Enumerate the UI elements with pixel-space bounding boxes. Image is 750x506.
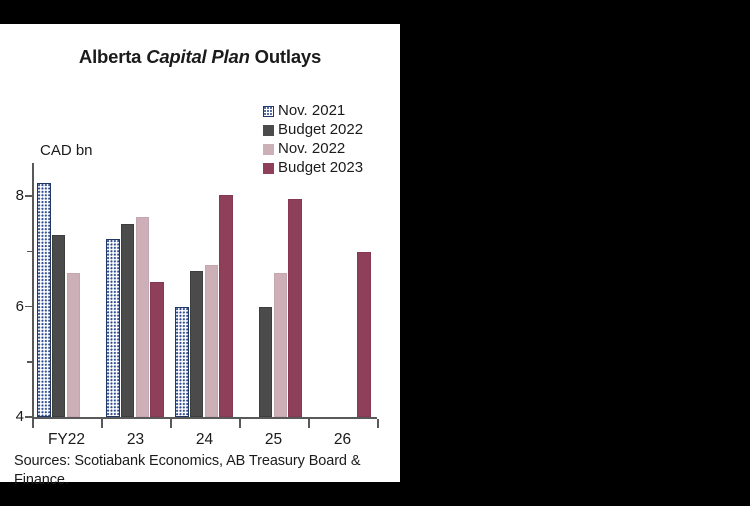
x-tick-label-26: 26 xyxy=(308,431,377,449)
bar-nov-2021-24 xyxy=(175,307,189,417)
legend-swatch-budget-2022 xyxy=(263,125,274,136)
legend-label-nov-2021: Nov. 2021 xyxy=(278,102,345,120)
y-axis-labels: 468 xyxy=(0,24,24,506)
title-prefix: Alberta xyxy=(79,46,146,67)
bar-budget-2023-26 xyxy=(357,252,371,417)
x-tick-4 xyxy=(308,419,310,428)
x-tick-label-23: 23 xyxy=(101,431,170,449)
chart-title: Alberta Capital Plan Outlays xyxy=(0,46,400,68)
y-tick-label-4: 4 xyxy=(2,409,24,424)
legend-item-budget-2022: Budget 2022 xyxy=(263,121,363,139)
x-tick-5 xyxy=(377,419,379,428)
y-tick-label-6: 6 xyxy=(2,299,24,314)
x-tick-label-24: 24 xyxy=(170,431,239,449)
y-axis-unit-label: CAD bn xyxy=(40,142,93,159)
source-note: Sources: Scotiabank Economics, AB Treasu… xyxy=(14,452,386,490)
legend-swatch-nov-2022 xyxy=(263,144,274,155)
bar-budget-2022-25 xyxy=(259,307,273,417)
bar-nov-2022-23 xyxy=(136,217,150,417)
bar-nov-2022-fy22 xyxy=(67,273,81,417)
x-tick-label-25: 25 xyxy=(239,431,308,449)
x-tick-label-FY22: FY22 xyxy=(32,431,101,449)
title-suffix: Outlays xyxy=(250,46,321,67)
legend-item-nov-2022: Nov. 2022 xyxy=(263,140,363,158)
bar-budget-2023-23 xyxy=(150,282,164,417)
bar-nov-2021-23 xyxy=(106,239,120,417)
bar-budget-2022-23 xyxy=(121,224,135,417)
title-italic: Capital Plan xyxy=(146,46,250,67)
x-axis-line xyxy=(32,417,377,419)
x-tick-0 xyxy=(32,419,34,428)
legend-label-budget-2022: Budget 2022 xyxy=(278,121,363,139)
legend-label-nov-2022: Nov. 2022 xyxy=(278,140,345,158)
y-tick-label-8: 8 xyxy=(2,188,24,203)
x-tick-3 xyxy=(239,419,241,428)
bar-nov-2022-25 xyxy=(274,273,288,417)
x-tick-1 xyxy=(101,419,103,428)
bar-budget-2022-fy22 xyxy=(52,235,66,417)
chart-figure: Alberta Capital Plan Outlays Nov. 2021 B… xyxy=(0,24,400,482)
bar-budget-2023-25 xyxy=(288,199,302,417)
x-tick-2 xyxy=(170,419,172,428)
legend-swatch-nov-2021 xyxy=(263,106,274,117)
bar-nov-2022-24 xyxy=(205,265,219,417)
bar-budget-2023-24 xyxy=(219,195,233,417)
bar-budget-2022-24 xyxy=(190,271,204,417)
bar-nov-2021-fy22 xyxy=(37,183,51,417)
plot-area xyxy=(32,163,377,417)
legend-item-nov-2021: Nov. 2021 xyxy=(263,102,363,120)
